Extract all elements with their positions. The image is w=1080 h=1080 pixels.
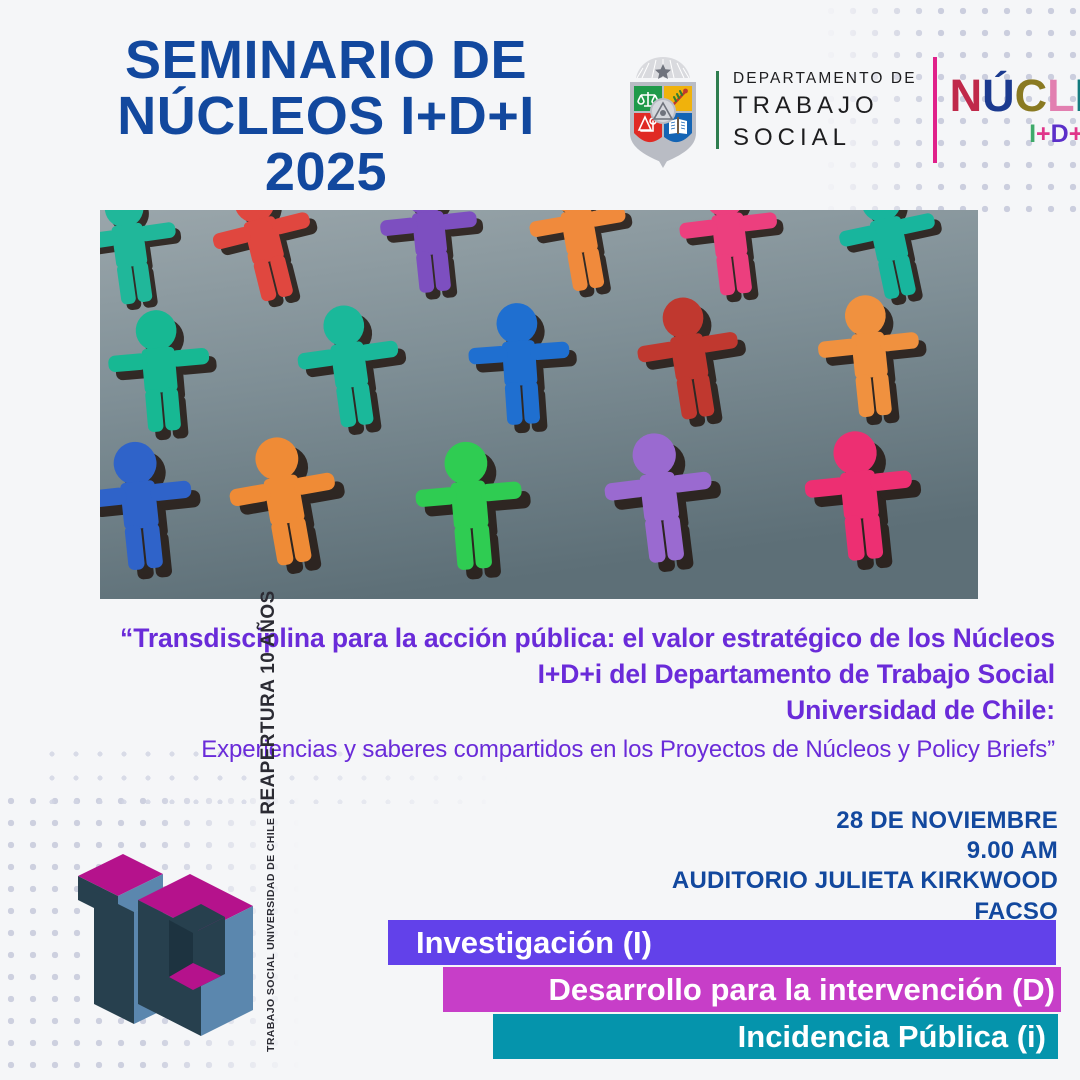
nucleos-sub-letter-0: I [1029, 122, 1036, 147]
event-venue: AUDITORIO JULIETA KIRKWOOD [538, 866, 1058, 896]
quote-line-3: Universidad de Chile: [40, 692, 1055, 728]
event-date: 28 DE NOVIEMBRE [538, 806, 1058, 836]
bar-investigacion-label: Investigación (I) [388, 925, 1056, 961]
quote-line-1: “Transdisciplina para la acción pública:… [40, 620, 1055, 656]
bar-desarrollo-label: Desarrollo para la intervención (D) [443, 972, 1061, 1008]
anniversary-vertical-text: TRABAJO SOCIAL UNIVERSIDAD DE CHILE REAP… [222, 836, 278, 1052]
bar-incidencia-label: Incidencia Pública (i) [493, 1019, 1058, 1055]
event-details: 28 DE NOVIEMBRE 9.00 AM AUDITORIO JULIET… [538, 806, 1058, 927]
header-logo-block: DEPARTAMENTO DE TRABAJO SOCIAL NÚCLEOS I… [616, 40, 1056, 180]
bar-investigacion: Investigación (I) [388, 920, 1056, 965]
bar-desarrollo: Desarrollo para la intervención (D) [443, 967, 1061, 1012]
nucleos-sub-letter-3: + [1069, 122, 1080, 147]
nucleos-letter-0: N [950, 73, 983, 118]
poster-canvas: SEMINARIO DE NÚCLEOS I+D+I 2025 [0, 0, 1080, 1080]
nucleos-logo: NÚCLEOS I+D+i [950, 73, 1080, 147]
nucleos-sub-letter-1: + [1036, 122, 1051, 147]
nucleos-letter-2: C [1015, 73, 1048, 118]
department-line-3: SOCIAL [733, 122, 917, 154]
event-time: 9.00 AM [538, 836, 1058, 866]
page-title: SEMINARIO DE NÚCLEOS I+D+I 2025 [56, 32, 596, 200]
nucleos-letter-1: Ú [982, 73, 1015, 118]
department-name: DEPARTAMENTO DE TRABAJO SOCIAL [733, 67, 917, 154]
green-divider [716, 71, 719, 149]
title-line-2: NÚCLEOS I+D+I [56, 88, 596, 144]
universidad-de-chile-crest-icon [616, 51, 710, 169]
department-line-1: DEPARTAMENTO DE [733, 67, 917, 90]
anniversary-text-small: TRABAJO SOCIAL UNIVERSIDAD DE CHILE [266, 818, 279, 1052]
nucleos-sub-letter-2: D [1051, 122, 1069, 147]
anniversary-text-big: REAPERTURA 10 AÑOS [259, 590, 278, 814]
department-line-2: TRABAJO [733, 90, 917, 122]
seminar-quote: “Transdisciplina para la acción pública:… [40, 620, 1055, 768]
nucleos-idi-mark: I+D+i [1029, 122, 1080, 147]
title-line-1: SEMINARIO DE [56, 32, 596, 88]
nucleos-wordmark: NÚCLEOS [950, 73, 1080, 118]
nucleos-letter-4: E [1075, 73, 1080, 118]
hero-photo [100, 210, 978, 599]
bar-incidencia: Incidencia Pública (i) [493, 1014, 1058, 1059]
title-line-3: 2025 [56, 144, 596, 200]
nucleos-letter-3: L [1047, 73, 1075, 118]
quote-line-2: I+D+i del Departamento de Trabajo Social [40, 656, 1055, 692]
quote-line-4: Experiencias y saberes compartidos en lo… [40, 732, 1055, 768]
pink-divider [933, 57, 937, 163]
